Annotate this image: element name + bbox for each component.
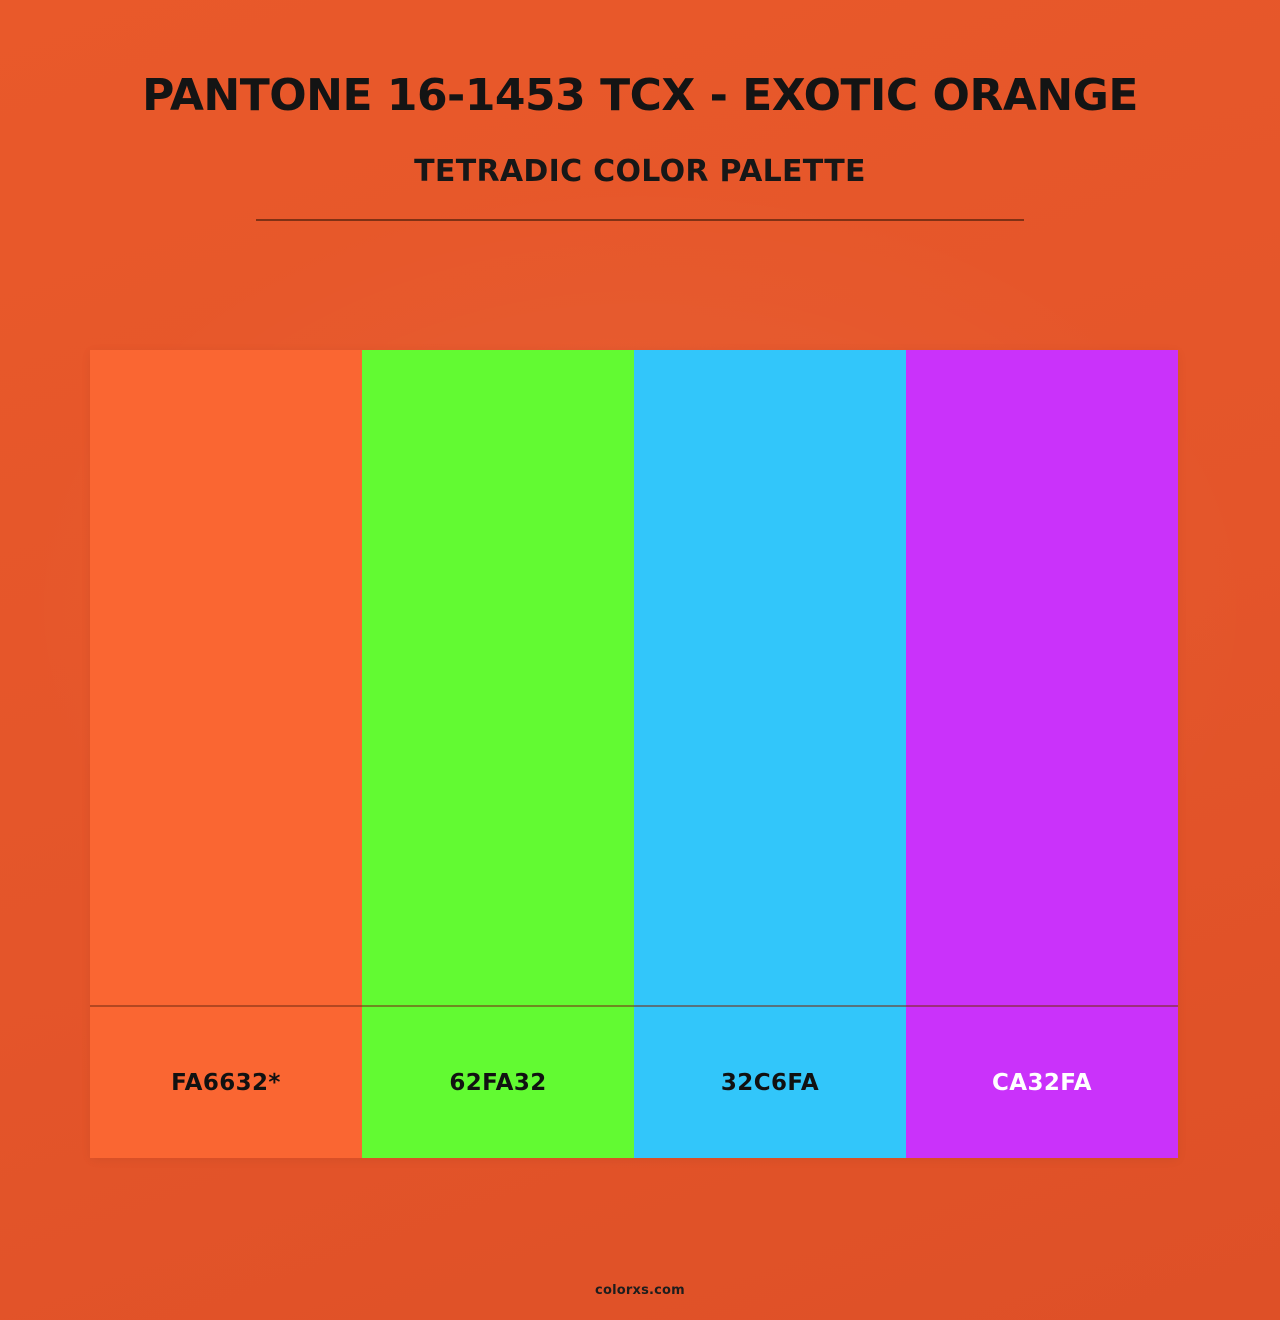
swatch-label-area: 32C6FA	[634, 1005, 906, 1158]
footer-site-name: colorxs.com	[0, 1283, 1280, 1298]
swatch-label-area: FA6632*	[90, 1005, 362, 1158]
page-title: PANTONE 16-1453 TCX - EXOTIC ORANGE	[0, 0, 1280, 120]
color-swatch[interactable]: 62FA32	[362, 350, 634, 1158]
swatch-hex-label: CA32FA	[992, 1070, 1092, 1096]
color-swatch[interactable]: CA32FA	[906, 350, 1178, 1158]
swatch-label-area: CA32FA	[906, 1005, 1178, 1158]
swatch-color-block	[634, 350, 906, 1005]
page-subtitle: TETRADIC COLOR PALETTE	[0, 120, 1280, 189]
swatch-hex-label: 62FA32	[449, 1070, 546, 1096]
swatch-color-block	[906, 350, 1178, 1005]
swatch-label-area: 62FA32	[362, 1005, 634, 1158]
color-swatch[interactable]: 32C6FA	[634, 350, 906, 1158]
color-swatch[interactable]: FA6632*	[90, 350, 362, 1158]
swatch-color-block	[362, 350, 634, 1005]
header: PANTONE 16-1453 TCX - EXOTIC ORANGE TETR…	[0, 0, 1280, 221]
swatch-color-block	[90, 350, 362, 1005]
swatch-hex-label: 32C6FA	[721, 1070, 819, 1096]
page-background: PANTONE 16-1453 TCX - EXOTIC ORANGE TETR…	[0, 0, 1280, 1320]
swatch-hex-label: FA6632*	[171, 1070, 281, 1096]
header-divider	[256, 219, 1024, 221]
color-palette: FA6632* 62FA32 32C6FA CA32FA	[90, 350, 1178, 1158]
